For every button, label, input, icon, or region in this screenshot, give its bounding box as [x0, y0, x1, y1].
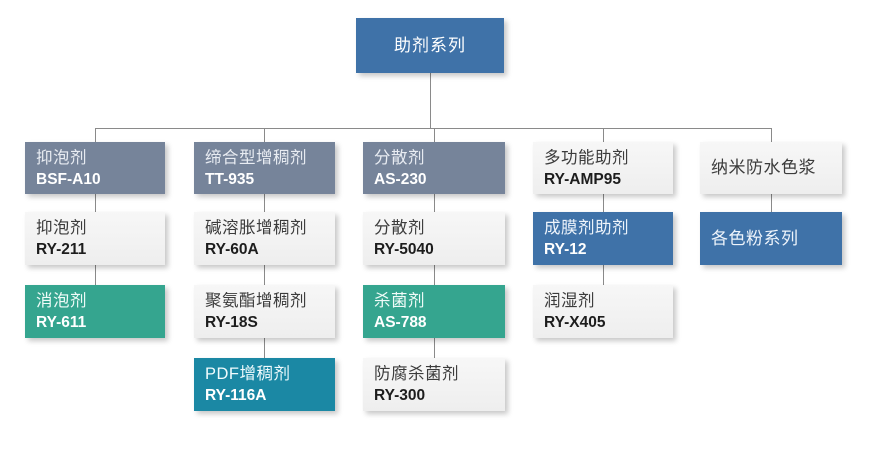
- node-label-code: RY-116A: [205, 387, 324, 405]
- node-label-cn: 防腐杀菌剂: [374, 365, 494, 384]
- node-label-cn: 各色粉系列: [711, 229, 799, 249]
- connector-node-link: [603, 194, 604, 212]
- connector-node-link: [603, 265, 604, 285]
- connector-branch-drop: [434, 128, 435, 142]
- node-label-code: RY-60A: [205, 241, 324, 259]
- connector-node-link: [434, 265, 435, 285]
- node-c1-r2[interactable]: 抑泡剂RY-211: [25, 212, 165, 265]
- node-c4-r1[interactable]: 多功能助剂RY-AMP95: [533, 142, 673, 194]
- node-label-code: AS-230: [374, 171, 494, 189]
- connector-node-link: [434, 194, 435, 212]
- root-node[interactable]: 助剂系列: [356, 18, 504, 73]
- node-label-code: RY-AMP95: [544, 171, 662, 189]
- node-label-cn: 碱溶胀增稠剂: [205, 219, 324, 238]
- node-c2-r2[interactable]: 碱溶胀增稠剂RY-60A: [194, 212, 335, 265]
- connector-branch-drop: [95, 128, 96, 142]
- connector-node-link: [95, 194, 96, 212]
- connector-node-link: [264, 338, 265, 358]
- node-label-cn: 分散剂: [374, 149, 494, 168]
- node-label-cn: PDF增稠剂: [205, 365, 324, 384]
- connector-node-link: [95, 265, 96, 285]
- connector-bus: [95, 128, 771, 129]
- node-c2-r1[interactable]: 缔合型增稠剂TT-935: [194, 142, 335, 194]
- connector-node-link: [264, 194, 265, 212]
- node-c5-r1[interactable]: 纳米防水色浆: [700, 142, 842, 194]
- node-c4-r2[interactable]: 成膜剂助剂RY-12: [533, 212, 673, 265]
- node-label-cn: 多功能助剂: [544, 149, 662, 168]
- node-label-code: RY-211: [36, 241, 154, 259]
- node-c5-r2[interactable]: 各色粉系列: [700, 212, 842, 265]
- node-label-code: RY-611: [36, 314, 154, 332]
- node-label-code: RY-18S: [205, 314, 324, 332]
- node-c3-r4[interactable]: 防腐杀菌剂RY-300: [363, 358, 505, 411]
- node-label-cn: 抑泡剂: [36, 149, 154, 168]
- diagram-canvas: 助剂系列抑泡剂BSF-A10抑泡剂RY-211消泡剂RY-611缔合型增稠剂TT…: [0, 0, 869, 457]
- node-c2-r4[interactable]: PDF增稠剂RY-116A: [194, 358, 335, 411]
- node-label-code: RY-X405: [544, 314, 662, 332]
- node-label-code: RY-5040: [374, 241, 494, 259]
- connector-branch-drop: [603, 128, 604, 142]
- node-c2-r3[interactable]: 聚氨酯增稠剂RY-18S: [194, 285, 335, 338]
- node-label-cn: 消泡剂: [36, 292, 154, 311]
- node-label-cn: 纳米防水色浆: [711, 158, 816, 178]
- node-label-cn: 聚氨酯增稠剂: [205, 292, 324, 311]
- node-label-code: RY-300: [374, 387, 494, 405]
- node-label-cn: 杀菌剂: [374, 292, 494, 311]
- node-c4-r3[interactable]: 润湿剂RY-X405: [533, 285, 673, 338]
- node-label-cn: 成膜剂助剂: [544, 219, 662, 238]
- node-label-code: RY-12: [544, 241, 662, 259]
- node-label-cn: 抑泡剂: [36, 219, 154, 238]
- connector-node-link: [434, 338, 435, 358]
- node-label-cn: 缔合型增稠剂: [205, 149, 324, 168]
- node-c1-r3[interactable]: 消泡剂RY-611: [25, 285, 165, 338]
- node-label-cn: 润湿剂: [544, 292, 662, 311]
- node-label-code: AS-788: [374, 314, 494, 332]
- connector-branch-drop: [264, 128, 265, 142]
- node-label-code: BSF-A10: [36, 171, 154, 189]
- connector-node-link: [771, 194, 772, 212]
- node-c3-r3[interactable]: 杀菌剂AS-788: [363, 285, 505, 338]
- root-node-label: 助剂系列: [394, 36, 466, 56]
- node-label-code: TT-935: [205, 171, 324, 189]
- node-c3-r2[interactable]: 分散剂RY-5040: [363, 212, 505, 265]
- connector-node-link: [264, 265, 265, 285]
- node-c1-r1[interactable]: 抑泡剂BSF-A10: [25, 142, 165, 194]
- connector-branch-drop: [771, 128, 772, 142]
- node-label-cn: 分散剂: [374, 219, 494, 238]
- node-c3-r1[interactable]: 分散剂AS-230: [363, 142, 505, 194]
- connector-root-stem: [430, 73, 431, 128]
